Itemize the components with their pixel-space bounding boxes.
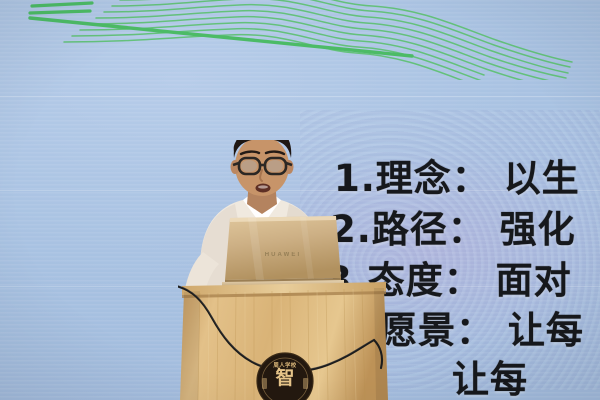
topographic-wave-graphic (0, 0, 600, 80)
green-rule-short-top2 (30, 11, 90, 13)
podium-emblem (254, 348, 316, 400)
green-rule-short-top (32, 3, 92, 6)
laptop-lid (225, 216, 341, 280)
led-panel-seam (0, 96, 600, 97)
screenshot-root: 1.理念： 以生 2.路径： 强化 3.态度： 面对 愿景： 让每 让每 (0, 0, 600, 400)
